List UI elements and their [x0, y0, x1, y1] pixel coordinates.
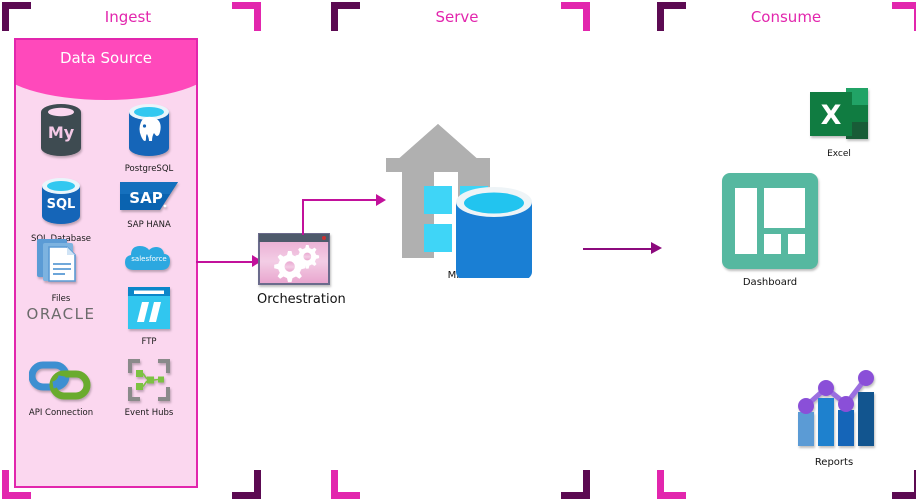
connector-orchestration-to-mpp-horizontal — [302, 199, 378, 201]
connector-orchestration-to-mpp-vertical — [302, 199, 304, 235]
data-source-item-event-hubs[interactable]: Event Hubs — [104, 358, 194, 418]
data-source-item-salesforce[interactable]: salesforce — [104, 240, 194, 282]
node-dashboard[interactable]: Dashboard — [712, 172, 828, 288]
data-source-item-sql-database[interactable]: SQL SQL Database — [16, 176, 106, 244]
api-connection-links-icon — [29, 358, 93, 402]
section-bracket-bottom-right-ingest — [232, 470, 261, 499]
svg-text:X: X — [821, 100, 842, 131]
data-warehouse-database-icon — [378, 118, 538, 278]
data-source-item-label: Event Hubs — [104, 408, 194, 418]
panel-header-curve — [14, 66, 198, 100]
node-label-dashboard: Dashboard — [712, 277, 828, 288]
svg-text:SAP: SAP — [129, 189, 162, 207]
node-label-reports: Reports — [786, 457, 882, 468]
connector-mpp-to-consume — [583, 248, 653, 250]
svg-text:salesforce: salesforce — [131, 255, 166, 263]
postgresql-elephant-icon — [125, 102, 173, 158]
node-excel[interactable]: X Excel — [796, 86, 882, 159]
data-source-item-label: FTP — [104, 337, 194, 347]
section-bracket-top-right-ingest — [232, 2, 261, 31]
svg-text:SQL: SQL — [47, 197, 76, 212]
reports-bar-line-chart-icon — [788, 358, 880, 450]
section-title-ingest: Ingest — [105, 8, 151, 26]
event-hubs-icon — [125, 358, 173, 402]
data-source-panel[interactable]: Data Source My — [14, 38, 198, 488]
data-source-item-label: API Connection — [16, 408, 106, 418]
section-bracket-bottom-right-serve — [561, 470, 590, 499]
section-bracket-top-right-consume — [892, 2, 916, 31]
node-mpp[interactable]: MPP — [378, 118, 538, 281]
section-bracket-bottom-right-consume — [892, 470, 916, 499]
data-source-item-label: SAP HANA — [104, 220, 194, 230]
section-title-consume: Consume — [751, 8, 821, 26]
svg-text:My: My — [48, 123, 75, 142]
architecture-diagram: Ingest Serve Consume Data Source My — [0, 0, 916, 498]
salesforce-cloud-icon: salesforce — [122, 240, 176, 276]
svg-text:ORACLE: ORACLE — [27, 305, 96, 323]
data-source-item-sap-hana[interactable]: SAP SAP HANA — [104, 180, 194, 230]
section-title-serve: Serve — [435, 8, 478, 26]
arrowhead-mpp-to-consume — [651, 242, 662, 254]
section-bracket-top-left-consume — [657, 2, 686, 31]
section-bracket-top-left-ingest — [2, 2, 31, 31]
data-source-panel-title: Data Source — [16, 49, 196, 67]
dashboard-tiles-icon — [721, 172, 819, 270]
node-label-orchestration: Orchestration — [257, 292, 331, 307]
section-bracket-bottom-left-consume — [657, 470, 686, 499]
data-source-item-mysql[interactable]: My — [16, 102, 106, 164]
files-stack-icon — [35, 236, 87, 288]
orchestration-gears-window-icon — [258, 233, 330, 285]
node-label-excel: Excel — [796, 149, 882, 159]
ftp-icon — [126, 285, 172, 331]
data-source-item-postgresql[interactable]: PostgreSQL — [104, 102, 194, 174]
sql-database-cylinder-icon: SQL — [37, 176, 85, 228]
data-source-item-oracle[interactable]: ORACLE — [16, 302, 106, 330]
data-source-item-api-connection[interactable]: API Connection — [16, 358, 106, 418]
section-bracket-top-right-serve — [561, 2, 590, 31]
data-source-item-files[interactable]: Files — [16, 236, 106, 304]
mysql-cylinder-icon: My — [37, 102, 85, 158]
excel-icon: X — [808, 86, 870, 142]
section-bracket-bottom-left-serve — [331, 470, 360, 499]
connector-datasource-to-orchestration — [196, 261, 254, 263]
section-bracket-top-left-serve — [331, 2, 360, 31]
data-source-item-ftp[interactable]: FTP — [104, 285, 194, 347]
data-source-item-label: PostgreSQL — [104, 164, 194, 174]
node-reports[interactable]: Reports — [786, 358, 882, 468]
oracle-wordmark-icon: ORACLE — [20, 302, 102, 324]
node-orchestration[interactable]: Orchestration — [257, 233, 331, 307]
sap-hana-icon: SAP — [120, 180, 178, 214]
